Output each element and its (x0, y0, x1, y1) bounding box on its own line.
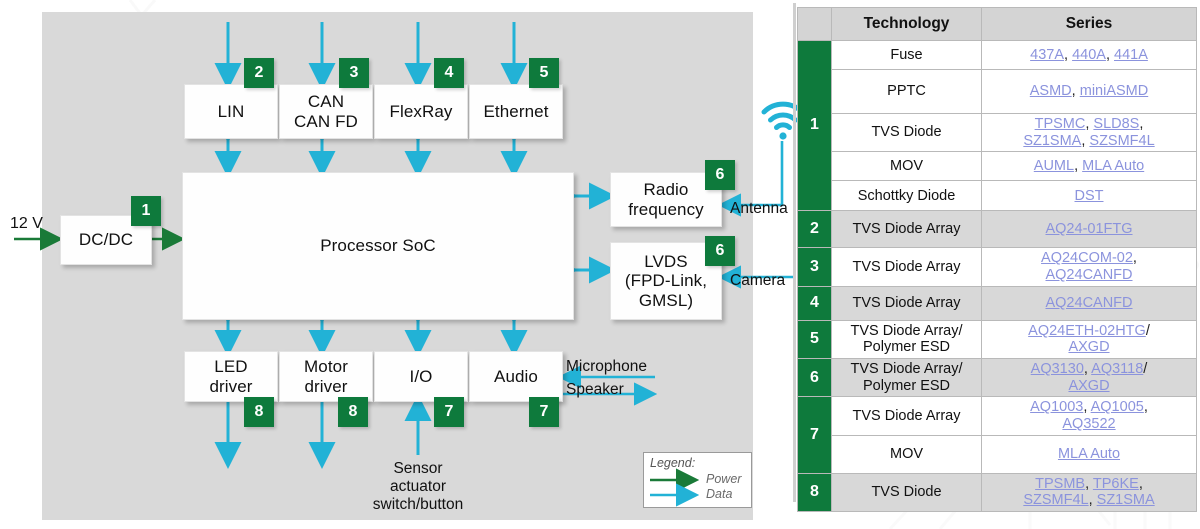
series-separator: , (1106, 47, 1114, 63)
technology-cell: Schottky Diode (832, 181, 982, 211)
block-radio-frequency-label: Radio frequency (624, 180, 708, 218)
technology-cell: TVS Diode Array/Polymer ESD (832, 320, 982, 358)
sensor-line3: switch/button (373, 496, 463, 513)
series-link[interactable]: AQ24-01FTG (1045, 221, 1132, 237)
block-lin[interactable]: LIN (184, 84, 278, 139)
table-row: MOVMLA Auto (798, 435, 1197, 473)
table-row: 8TVS DiodeTPSMB, TP6KE,SZSMF4L, SZ1SMA (798, 473, 1197, 511)
table-row: TVS DiodeTPSMC, SLD8S,SZ1SMA, SZSMF4L (798, 114, 1197, 152)
series-link[interactable]: AQ24ETH-02HTG (1028, 323, 1146, 339)
series-link[interactable]: AXGD (1068, 378, 1109, 394)
block-can[interactable]: CAN CAN FD (279, 84, 373, 139)
badge-lin: 2 (244, 58, 274, 88)
block-rf-line2: frequency (628, 200, 704, 219)
technology-cell: TVS Diode Array (832, 248, 982, 286)
row-number-cell: 7 (798, 397, 832, 473)
series-separator: , (1085, 476, 1093, 492)
block-flexray-label: FlexRay (385, 102, 456, 121)
series-cell: AUML, MLA Auto (982, 152, 1197, 181)
series-link[interactable]: AQ3522 (1062, 416, 1115, 432)
block-led-driver-label: LED driver (205, 357, 256, 395)
technology-cell: Fuse (832, 41, 982, 70)
series-link[interactable]: TP6KE (1093, 476, 1139, 492)
series-separator: , (1074, 158, 1082, 174)
technology-cell: PPTC (832, 70, 982, 114)
legend-data-label: Data (706, 487, 732, 501)
row-number-cell: 6 (798, 359, 832, 397)
badge-motor: 8 (338, 397, 368, 427)
series-link[interactable]: MLA Auto (1082, 158, 1144, 174)
series-link[interactable]: 440A (1072, 47, 1106, 63)
series-link[interactable]: AQ3130 (1031, 361, 1084, 377)
table-head: Technology Series (798, 8, 1197, 41)
block-motor-driver-label: Motor driver (300, 357, 352, 395)
series-separator: / (1146, 323, 1150, 339)
series-link[interactable]: ASMD (1030, 83, 1072, 99)
table-row: 6TVS Diode Array/Polymer ESDAQ3130, AQ31… (798, 359, 1197, 397)
block-lvds-line1: LVDS (644, 252, 688, 271)
series-cell: ASMD, miniASMD (982, 70, 1197, 114)
series-link[interactable]: AQ24CANFD (1045, 267, 1132, 283)
speaker-label: Speaker (566, 381, 624, 399)
row-number-cell: 3 (798, 248, 832, 286)
badge-led: 8 (244, 397, 274, 427)
series-cell: AQ24CANFD (982, 286, 1197, 320)
series-link[interactable]: SLD8S (1093, 116, 1139, 132)
series-cell: AQ1003, AQ1005,AQ3522 (982, 397, 1197, 435)
legend-power-label: Power (706, 472, 741, 486)
block-led-line2: driver (209, 377, 252, 396)
series-link[interactable]: SZSMF4L (1089, 133, 1154, 149)
series-separator: , (1139, 476, 1143, 492)
series-separator: , (1133, 250, 1137, 266)
table-element: Technology Series 1Fuse437A, 440A, 441AP… (797, 7, 1197, 512)
camera-label: Camera (730, 272, 785, 290)
series-cell: TPSMB, TP6KE,SZSMF4L, SZ1SMA (982, 473, 1197, 511)
series-cell: AQ24COM-02,AQ24CANFD (982, 248, 1197, 286)
block-dcdc-label: DC/DC (75, 230, 137, 249)
series-link[interactable]: MLA Auto (1058, 446, 1120, 462)
block-motor-driver[interactable]: Motor driver (279, 351, 373, 402)
block-flexray[interactable]: FlexRay (374, 84, 468, 139)
series-link[interactable]: AXGD (1068, 339, 1109, 355)
series-cell: AQ24-01FTG (982, 211, 1197, 248)
block-ethernet[interactable]: Ethernet (469, 84, 563, 139)
technology-cell: TVS Diode Array/Polymer ESD (832, 359, 982, 397)
badge-io: 7 (434, 397, 464, 427)
block-can-label: CAN CAN FD (290, 92, 362, 130)
block-io-label: I/O (406, 367, 437, 386)
row-number-cell: 4 (798, 286, 832, 320)
sensor-line1: Sensor (393, 460, 442, 477)
series-link[interactable]: SZ1SMA (1097, 492, 1155, 508)
technology-cell: TVS Diode Array (832, 211, 982, 248)
sensor-line2: actuator (390, 478, 446, 495)
series-link[interactable]: AQ24COM-02 (1041, 250, 1133, 266)
series-link[interactable]: SZ1SMA (1023, 133, 1081, 149)
table-row: 5TVS Diode Array/Polymer ESDAQ24ETH-02HT… (798, 320, 1197, 358)
row-number-cell: 2 (798, 211, 832, 248)
block-io[interactable]: I/O (374, 351, 468, 402)
antenna-label: Antenna (730, 200, 788, 218)
header-series: Series (982, 8, 1197, 41)
technology-cell: TVS Diode (832, 114, 982, 152)
series-cell: MLA Auto (982, 435, 1197, 473)
block-can-line2: CAN FD (294, 112, 358, 131)
badge-can: 3 (339, 58, 369, 88)
protection-table: Technology Series 1Fuse437A, 440A, 441AP… (797, 7, 1197, 498)
series-link[interactable]: miniASMD (1080, 83, 1148, 99)
table-row: 1Fuse437A, 440A, 441A (798, 41, 1197, 70)
series-link[interactable]: AUML (1034, 158, 1074, 174)
header-technology: Technology (832, 8, 982, 41)
microphone-label: Microphone (566, 358, 647, 376)
technology-cell: TVS Diode (832, 473, 982, 511)
series-link[interactable]: 441A (1114, 47, 1148, 63)
series-link[interactable]: 437A (1030, 47, 1064, 63)
block-processor-soc-label: Processor SoC (316, 236, 440, 255)
table-row: 4TVS Diode ArrayAQ24CANFD (798, 286, 1197, 320)
series-separator: / (1143, 361, 1147, 377)
block-lvds-line2: (FPD-Link, (625, 271, 707, 290)
series-separator: , (1083, 399, 1090, 415)
series-cell: 437A, 440A, 441A (982, 41, 1197, 70)
series-separator: , (1072, 83, 1080, 99)
series-link[interactable]: TPSMB (1035, 476, 1085, 492)
badge-dcdc: 1 (131, 196, 161, 226)
badge-audio: 7 (529, 397, 559, 427)
technology-cell: TVS Diode Array (832, 397, 982, 435)
series-link[interactable]: AQ1003 (1030, 399, 1083, 415)
block-processor-soc[interactable]: Processor SoC (182, 172, 574, 320)
series-separator: , (1064, 47, 1072, 63)
series-link[interactable]: AQ3118 (1091, 361, 1143, 377)
badge-rf: 6 (705, 160, 735, 190)
block-lvds-line3: GMSL) (639, 291, 693, 310)
series-cell: DST (982, 181, 1197, 211)
block-motor-line1: Motor (304, 357, 348, 376)
power-input-label: 12 V (10, 215, 43, 234)
badge-lvds: 6 (705, 236, 735, 266)
table-row: 7TVS Diode ArrayAQ1003, AQ1005,AQ3522 (798, 397, 1197, 435)
technology-cell: MOV (832, 152, 982, 181)
badge-ethernet: 5 (529, 58, 559, 88)
block-ethernet-label: Ethernet (479, 102, 552, 121)
row-number-cell: 5 (798, 320, 832, 358)
series-cell: AQ3130, AQ3118/AXGD (982, 359, 1197, 397)
block-can-line1: CAN (308, 92, 344, 111)
series-link[interactable]: TPSMC (1035, 116, 1086, 132)
series-link[interactable]: DST (1075, 188, 1104, 204)
series-link[interactable]: AQ1005 (1091, 399, 1144, 415)
series-separator: , (1144, 399, 1148, 415)
series-cell: AQ24ETH-02HTG/AXGD (982, 320, 1197, 358)
table-header-row: Technology Series (798, 8, 1197, 41)
row-number-cell: 1 (798, 41, 832, 211)
block-audio-label: Audio (490, 367, 542, 386)
series-separator: , (1139, 116, 1143, 132)
table-row: 3TVS Diode ArrayAQ24COM-02,AQ24CANFD (798, 248, 1197, 286)
header-number (798, 8, 832, 41)
series-separator: , (1089, 492, 1097, 508)
sensor-actuator-label: Sensor actuator switch/button (348, 460, 488, 514)
table-row: Schottky DiodeDST (798, 181, 1197, 211)
block-lin-label: LIN (214, 102, 249, 121)
technology-cell: TVS Diode Array (832, 286, 982, 320)
block-led-driver[interactable]: LED driver (184, 351, 278, 402)
table-body: 1Fuse437A, 440A, 441APPTCASMD, miniASMDT… (798, 41, 1197, 512)
table-row: 2TVS Diode ArrayAQ24-01FTG (798, 211, 1197, 248)
block-rf-line1: Radio (644, 180, 689, 199)
series-link[interactable]: AQ24CANFD (1045, 295, 1132, 311)
legend-box: Legend: Power Data (643, 452, 752, 508)
series-link[interactable]: SZSMF4L (1023, 492, 1088, 508)
block-audio[interactable]: Audio (469, 351, 563, 402)
table-row: MOVAUML, MLA Auto (798, 152, 1197, 181)
series-cell: TPSMC, SLD8S,SZ1SMA, SZSMF4L (982, 114, 1197, 152)
table-row: PPTCASMD, miniASMD (798, 70, 1197, 114)
block-led-line1: LED (214, 357, 247, 376)
block-motor-line2: driver (304, 377, 347, 396)
badge-flexray: 4 (434, 58, 464, 88)
technology-cell: MOV (832, 435, 982, 473)
block-lvds-label: LVDS (FPD-Link, GMSL) (621, 252, 711, 309)
row-number-cell: 8 (798, 473, 832, 511)
